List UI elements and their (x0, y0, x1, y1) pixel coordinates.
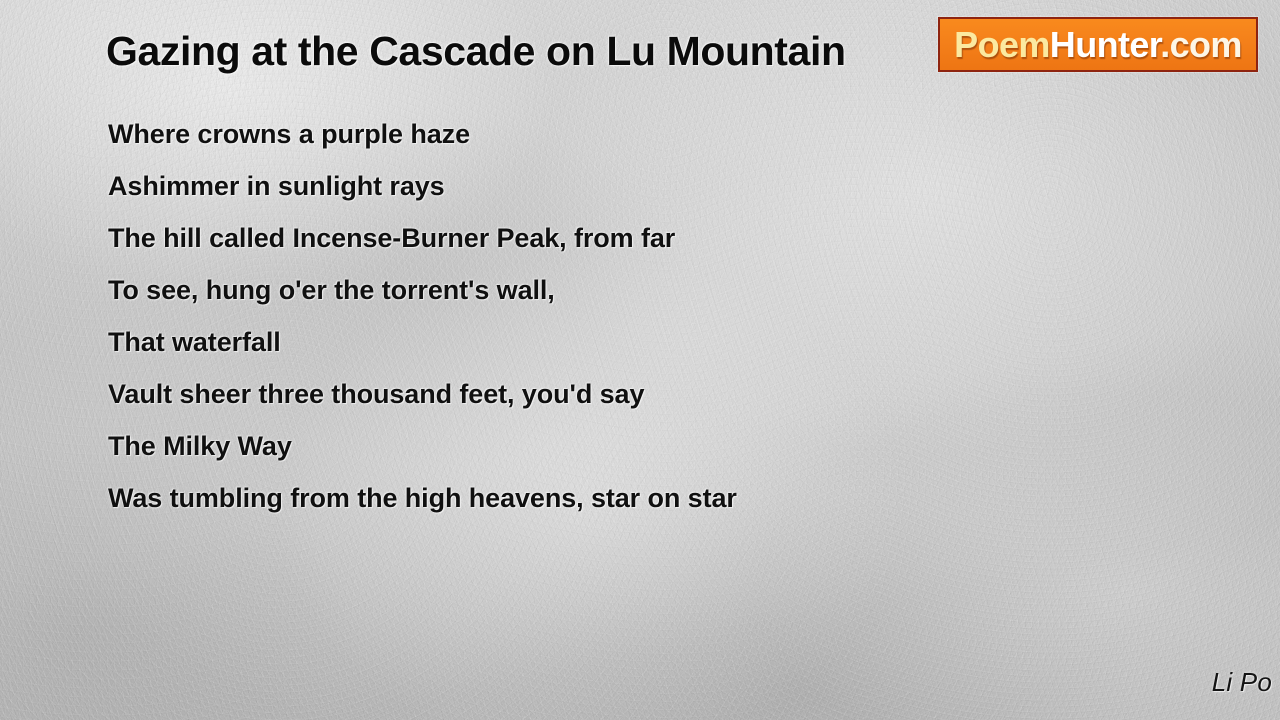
page-title: Gazing at the Cascade on Lu Mountain (106, 28, 846, 75)
poem-body: Where crowns a purple hazeAshimmer in su… (108, 108, 1008, 524)
poem-line: Vault sheer three thousand feet, you'd s… (108, 368, 1008, 420)
poem-image-card: Gazing at the Cascade on Lu Mountain Whe… (0, 0, 1280, 720)
logo-poem-text: Poem (954, 24, 1050, 65)
poem-line: The hill called Incense-Burner Peak, fro… (108, 212, 1008, 264)
poem-line: Ashimmer in sunlight rays (108, 160, 1008, 212)
poem-content: Gazing at the Cascade on Lu Mountain Whe… (0, 0, 1280, 720)
logo-tld-text: .com (1160, 24, 1242, 65)
poemhunter-logo[interactable]: PoemHunter.com (938, 17, 1258, 72)
poem-line: That waterfall (108, 316, 1008, 368)
poem-author: Li Po (1212, 667, 1272, 698)
poem-line: Was tumbling from the high heavens, star… (108, 472, 1008, 524)
poem-line: Where crowns a purple haze (108, 108, 1008, 160)
logo-hunter-text: Hunter (1050, 24, 1160, 65)
poem-line: The Milky Way (108, 420, 1008, 472)
logo-wordmark: PoemHunter.com (954, 27, 1242, 63)
poem-line: To see, hung o'er the torrent's wall, (108, 264, 1008, 316)
